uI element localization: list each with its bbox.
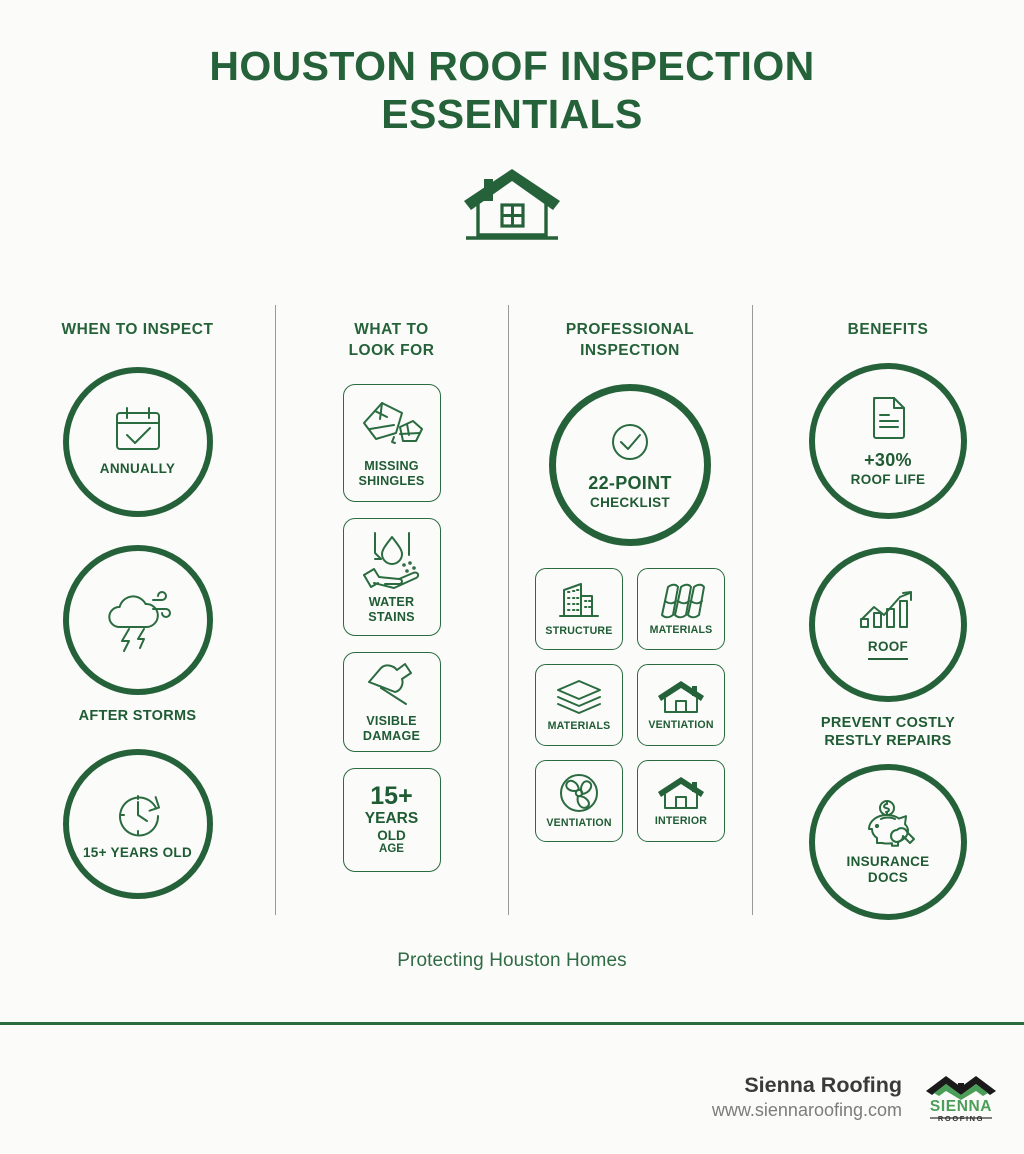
label-line-1: INSURANCE — [847, 854, 930, 870]
card-water-stains[interactable]: WATER STAINS — [343, 518, 441, 636]
card-missing-shingles[interactable]: MISSING SHINGLES — [343, 384, 441, 502]
heading-line-1: PROFESSIONAL — [566, 320, 694, 341]
circle-label-roof-life-text: ROOF LIFE — [851, 472, 926, 488]
header-house-icon-wrap — [0, 163, 1024, 247]
grid-cell-materials-tiles[interactable]: MATERIALS — [637, 568, 725, 650]
footer-divider — [0, 1022, 1024, 1025]
label-line-1: PREVENT COSTLY — [821, 714, 955, 732]
column-what-to-look-for: WHAT TO LOOK FOR MISSING SHINGLES — [275, 300, 508, 920]
circle-roof-life[interactable]: +30% ROOF LIFE — [809, 363, 967, 519]
logo-text-sienna: SIENNA — [930, 1098, 992, 1115]
footer-text-block: Sienna Roofing www.siennaroofing.com — [712, 1072, 902, 1122]
label-line-2: DOCS — [847, 870, 930, 886]
column-heading-when: WHEN TO INSPECT — [62, 320, 214, 341]
label-prevent-costly-repairs: PREVENT COSTLY RESTLY REPAIRS — [821, 714, 955, 750]
grid-cell-ventiation-house[interactable]: VENTIATION — [637, 664, 725, 746]
grid-label-materials-tiles: MATERIALS — [648, 624, 715, 636]
circle-15-years-old[interactable]: 15+ YEARS OLD — [63, 749, 213, 899]
column-benefits: BENEFITS +30% ROOF LIFE — [752, 300, 1024, 920]
header: HOUSTON ROOF INSPECTION ESSENTIALS — [0, 0, 1024, 247]
age-old: OLD — [377, 828, 406, 844]
card-age-15-years[interactable]: 15+ YEARS OLD AGE — [343, 768, 441, 872]
label-line-2: DAMAGE — [363, 729, 420, 743]
heading-line-1: WHAT TO — [349, 320, 435, 341]
grid-cell-ventiation-fan[interactable]: VENTIATION — [535, 760, 623, 842]
circle-label-insurance: INSURANCE DOCS — [847, 854, 930, 886]
clock-icon — [110, 788, 166, 840]
age-age: AGE — [379, 843, 404, 856]
circle-insurance-docs[interactable]: INSURANCE DOCS — [809, 764, 967, 920]
company-name: Sienna Roofing — [712, 1072, 902, 1099]
title-line-2: ESSENTIALS — [162, 90, 862, 138]
house-interior-icon — [656, 774, 706, 812]
heading-line-2: INSPECTION — [566, 341, 694, 362]
document-icon — [864, 394, 912, 444]
columns-container: WHEN TO INSPECT ANNUALLY — [0, 300, 1024, 920]
grid-label-interior: INTERIOR — [653, 815, 709, 827]
label-line-2: RESTLY REPAIRS — [821, 732, 955, 750]
piggy-bank-wrench-icon — [855, 799, 921, 849]
circle-label-roof: ROOF — [868, 639, 908, 660]
company-website[interactable]: www.siennaroofing.com — [712, 1099, 902, 1122]
infographic-page: HOUSTON ROOF INSPECTION ESSENTIALS WHEN … — [0, 0, 1024, 1154]
inspection-grid: STRUCTURE MATERIALS — [535, 568, 725, 842]
title-line-1: HOUSTON ROOF INSPECTION — [162, 42, 862, 90]
calendar-check-icon — [110, 406, 166, 456]
column-heading-look-for: WHAT TO LOOK FOR — [349, 320, 435, 362]
card-label-missing-shingles: MISSING SHINGLES — [356, 459, 428, 488]
check-circle-icon — [607, 419, 653, 465]
card-visible-damage[interactable]: VISIBLE DAMAGE — [343, 652, 441, 752]
page-title: HOUSTON ROOF INSPECTION ESSENTIALS — [162, 42, 862, 139]
column-when-to-inspect: WHEN TO INSPECT ANNUALLY — [0, 300, 275, 920]
grid-label-structure: STRUCTURE — [543, 625, 614, 637]
layers-stack-icon — [554, 677, 604, 717]
fan-icon — [556, 772, 602, 814]
age-years: YEARS — [365, 810, 418, 828]
circle-label-15-years: 15+ YEARS OLD — [83, 845, 192, 861]
footer: Sienna Roofing www.siennaroofing.com SIE… — [0, 1052, 1024, 1142]
age-value: 15+ — [370, 783, 412, 809]
house-icon — [460, 163, 564, 247]
grid-label-ventiation-house: VENTIATION — [646, 719, 715, 731]
column-heading-professional: PROFESSIONAL INSPECTION — [566, 320, 694, 362]
house-roof-icon — [656, 678, 706, 716]
circle-annually[interactable]: ANNUALLY — [63, 367, 213, 517]
card-label-visible-damage: VISIBLE DAMAGE — [360, 714, 423, 743]
column-professional-inspection: PROFESSIONAL INSPECTION 22-POINT CHECKLI… — [508, 300, 752, 920]
hero-line-2: CHECKLIST — [590, 495, 670, 511]
grid-cell-interior[interactable]: INTERIOR — [637, 760, 725, 842]
circle-22-point-checklist[interactable]: 22-POINT CHECKLIST — [549, 384, 711, 546]
circle-label-roof-life-value: +30% — [864, 450, 912, 471]
label-line-1: MISSING — [359, 459, 425, 473]
grid-label-materials-layers: MATERIALS — [546, 720, 613, 732]
grid-cell-structure[interactable]: STRUCTURE — [535, 568, 623, 650]
water-drop-hand-icon — [356, 529, 428, 591]
hammer-icon — [359, 660, 425, 706]
hero-line-1: 22-POINT — [588, 473, 671, 494]
label-line-2: SHINGLES — [359, 474, 425, 488]
sienna-roofing-logo: SIENNA ROOFING — [920, 1069, 1002, 1125]
company-logo: SIENNA ROOFING — [920, 1069, 1002, 1125]
card-label-water-stains: WATER STAINS — [344, 595, 440, 624]
circle-roof-growth[interactable]: ROOF — [809, 547, 967, 703]
broken-shingles-icon — [356, 397, 428, 453]
building-icon — [555, 580, 603, 622]
column-heading-benefits: BENEFITS — [848, 320, 929, 341]
growth-chart-icon — [856, 589, 920, 635]
label-after-storms: AFTER STORMS — [79, 707, 197, 725]
grid-label-ventiation-fan: VENTIATION — [544, 817, 613, 829]
label-line-1: VISIBLE — [363, 714, 420, 728]
grid-cell-materials-layers[interactable]: MATERIALS — [535, 664, 623, 746]
heading-line-2: LOOK FOR — [349, 341, 435, 362]
storm-cloud-lightning-icon — [101, 587, 175, 653]
tagline: Protecting Houston Homes — [0, 950, 1024, 972]
roof-tiles-icon — [656, 581, 706, 621]
circle-after-storms[interactable] — [63, 545, 213, 695]
circle-label-annually: ANNUALLY — [100, 461, 175, 477]
